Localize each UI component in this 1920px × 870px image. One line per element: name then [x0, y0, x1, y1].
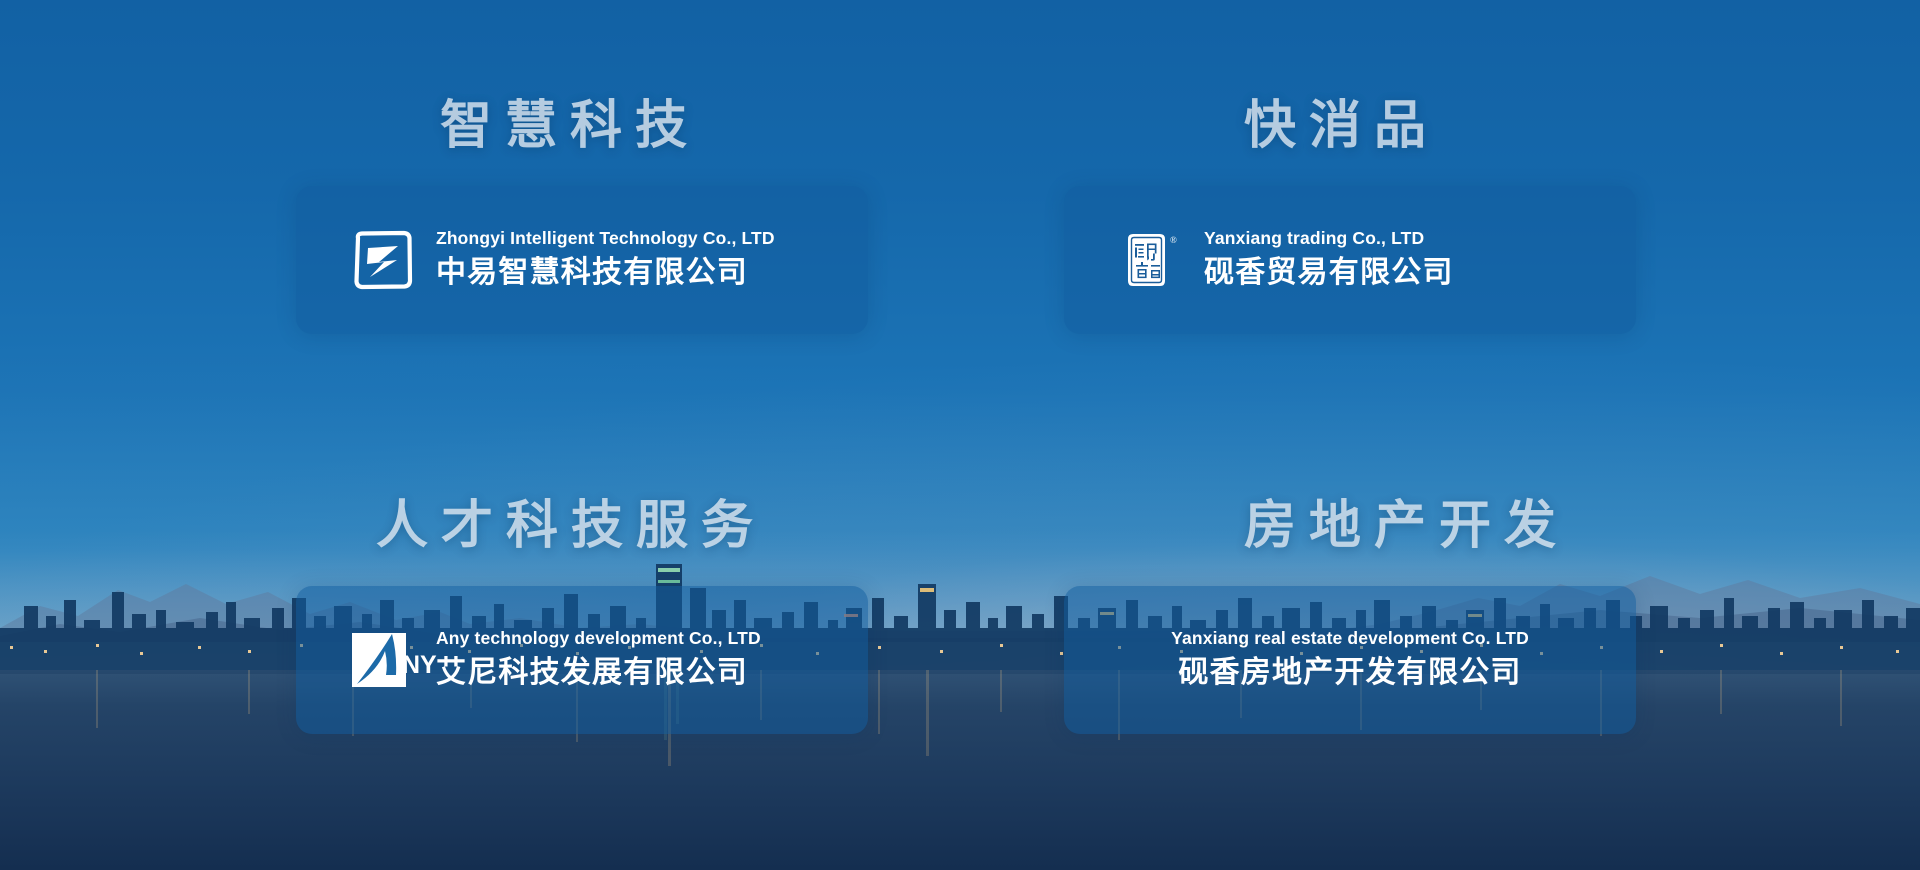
svg-text:®: ®: [1170, 235, 1177, 245]
section-title: 房地产开发: [1244, 500, 1636, 552]
company-card[interactable]: NY Any technology development Co., LTD 艾…: [296, 586, 868, 734]
section-smart-technology: 智慧科技 Zhongyi Intelligent Technology Co.,…: [296, 100, 868, 334]
company-card[interactable]: Yanxiang real estate development Co. LTD…: [1064, 586, 1636, 734]
section-real-estate-development: 房地产开发 Yanxiang real estate development C…: [1064, 500, 1636, 734]
svg-text:NY: NY: [402, 651, 437, 679]
any-mountain-logo-icon: NY: [352, 629, 414, 691]
company-text: Zhongyi Intelligent Technology Co., LTD …: [436, 228, 775, 291]
company-card[interactable]: ® Yanxiang trading Co., LTD 砚香贸易有限公司: [1064, 186, 1636, 334]
company-name-cn: 中易智慧科技有限公司: [436, 255, 775, 292]
company-card[interactable]: Zhongyi Intelligent Technology Co., LTD …: [296, 186, 868, 334]
company-name-cn: 砚香贸易有限公司: [1204, 255, 1454, 292]
section-title: 人才科技服务: [376, 500, 868, 552]
company-text: Any technology development Co., LTD 艾尼科技…: [436, 628, 761, 691]
company-text: Yanxiang trading Co., LTD 砚香贸易有限公司: [1204, 228, 1454, 291]
section-talent-tech-services: 人才科技服务 NY Any technology development Co.…: [296, 500, 868, 734]
company-name-en: Any technology development Co., LTD: [436, 628, 761, 650]
company-name-cn: 砚香房地产开发有限公司: [1178, 655, 1521, 692]
yanxiang-seal-logo-icon: ®: [1120, 229, 1182, 291]
sections-grid: 智慧科技 Zhongyi Intelligent Technology Co.,…: [0, 0, 1920, 870]
company-name-cn: 艾尼科技发展有限公司: [436, 655, 761, 692]
company-name-en: Zhongyi Intelligent Technology Co., LTD: [436, 228, 775, 250]
section-fmcg: 快消品: [1064, 100, 1636, 334]
zhongyi-z-logo-icon: [352, 229, 414, 291]
section-title: 快消品: [1244, 100, 1636, 152]
company-text: Yanxiang real estate development Co. LTD…: [1171, 628, 1529, 691]
section-title: 智慧科技: [440, 100, 868, 152]
company-name-en: Yanxiang real estate development Co. LTD: [1171, 628, 1529, 650]
company-name-en: Yanxiang trading Co., LTD: [1204, 228, 1454, 250]
